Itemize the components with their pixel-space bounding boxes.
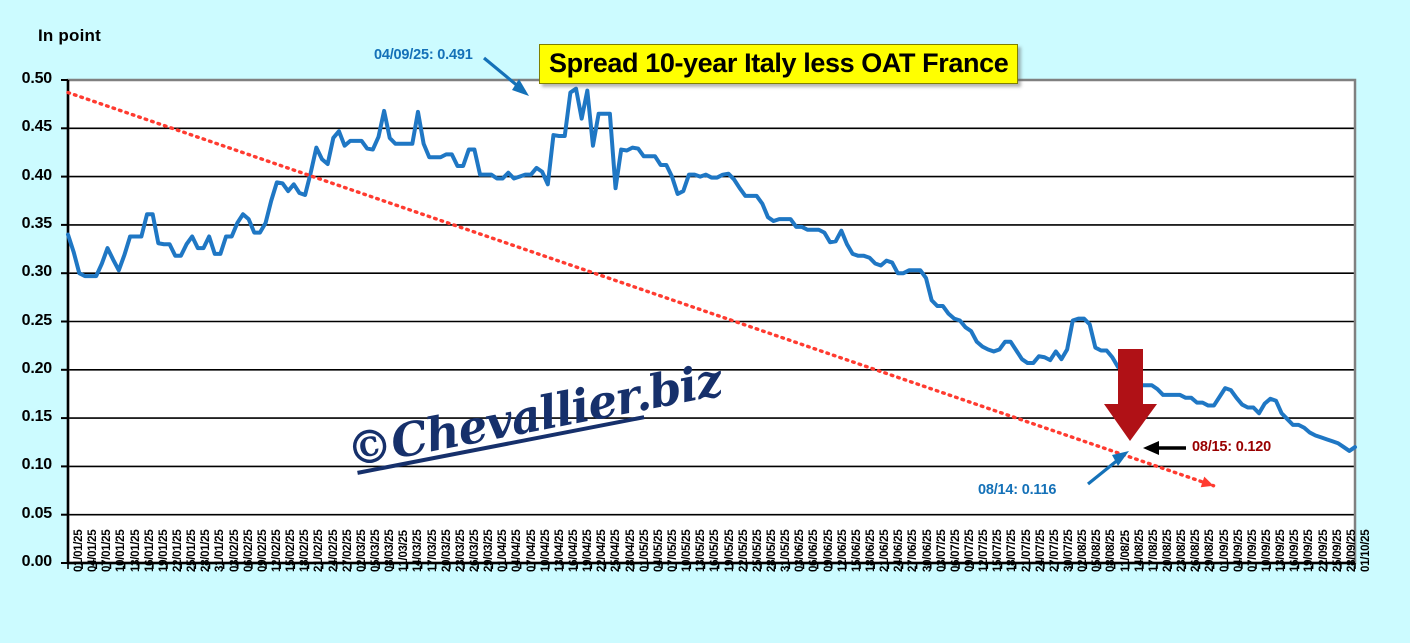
x-axis-tick-label: 27/02/25 <box>342 530 354 572</box>
annotation-last-value: 08/15: 0.120 <box>1192 439 1271 455</box>
x-axis-tick-label: 20/03/25 <box>441 530 453 572</box>
x-axis-tick-label: 19/01/25 <box>158 530 170 572</box>
x-axis-tick-label: 01/09/25 <box>1219 530 1231 572</box>
y-axis-tick-label: 0.05 <box>0 505 52 523</box>
x-axis-tick-label: 09/02/25 <box>257 530 269 572</box>
x-axis-tick-label: 14/08/25 <box>1134 530 1146 572</box>
x-axis-tick-label: 17/03/25 <box>427 530 439 572</box>
x-axis-tick-label: 06/06/25 <box>808 530 820 572</box>
x-axis-tick-label: 25/01/25 <box>186 530 198 572</box>
chart-title-box: Spread 10-year Italy less OAT France <box>539 44 1018 84</box>
x-axis-tick-label: 05/08/25 <box>1091 530 1103 572</box>
x-axis-tick-label: 19/04/25 <box>582 530 594 572</box>
x-axis-tick-label: 25/05/25 <box>752 530 764 572</box>
x-axis-tick-label: 08/08/25 <box>1105 530 1117 572</box>
x-axis-tick-label: 16/05/25 <box>709 530 721 572</box>
y-axis-tick-label: 0.50 <box>0 70 52 88</box>
x-axis-tick-label: 12/06/25 <box>837 530 849 572</box>
y-axis-tick-label: 0.10 <box>0 456 52 474</box>
x-axis-tick-label: 29/03/25 <box>483 530 495 572</box>
x-axis-tick-label: 16/01/25 <box>144 530 156 572</box>
chart-title: Spread 10-year Italy less OAT France <box>549 48 1008 78</box>
x-axis-tick-label: 07/01/25 <box>101 530 113 572</box>
x-axis-tick-label: 19/09/25 <box>1303 530 1315 572</box>
y-axis-tick-label: 0.45 <box>0 118 52 136</box>
x-axis-tick-label: 01/04/25 <box>497 530 509 572</box>
x-axis-tick-label: 09/07/25 <box>964 530 976 572</box>
x-axis-tick-label: 15/07/25 <box>992 530 1004 572</box>
x-axis-tick-label: 03/06/25 <box>794 530 806 572</box>
x-axis-tick-label: 24/02/25 <box>328 530 340 572</box>
x-axis-tick-label: 05/03/25 <box>370 530 382 572</box>
x-axis-tick-label: 23/08/25 <box>1176 530 1188 572</box>
x-axis-tick-label: 18/07/25 <box>1006 530 1018 572</box>
x-axis-tick-label: 16/04/25 <box>568 530 580 572</box>
x-axis-tick-label: 02/03/25 <box>356 530 368 572</box>
x-axis-tick-label: 04/05/25 <box>653 530 665 572</box>
x-axis-tick-label: 28/01/25 <box>200 530 212 572</box>
x-axis-tick-label: 02/08/25 <box>1077 530 1089 572</box>
x-axis-tick-label: 07/09/25 <box>1247 530 1259 572</box>
x-axis-tick-label: 13/05/25 <box>695 530 707 572</box>
x-axis-tick-label: 28/09/25 <box>1346 530 1358 572</box>
x-axis-tick-label: 18/06/25 <box>865 530 877 572</box>
annotation-low-value: 08/14: 0.116 <box>978 482 1056 498</box>
x-axis-tick-label: 04/04/25 <box>511 530 523 572</box>
x-axis-tick-label: 17/08/25 <box>1148 530 1160 572</box>
x-axis-tick-label: 14/03/25 <box>412 530 424 572</box>
chart-page: In point Spread 10-year Italy less OAT F… <box>0 0 1410 643</box>
x-axis-tick-label: 04/01/25 <box>87 530 99 572</box>
x-axis-tick-label: 16/09/25 <box>1289 530 1301 572</box>
x-axis-tick-label: 24/07/25 <box>1035 530 1047 572</box>
x-axis-tick-label: 10/09/25 <box>1261 530 1273 572</box>
x-axis-tick-label: 06/02/25 <box>243 530 255 572</box>
x-axis-tick-label: 13/04/25 <box>554 530 566 572</box>
x-axis-tick-label: 10/05/25 <box>681 530 693 572</box>
x-axis-tick-label: 25/09/25 <box>1332 530 1344 572</box>
x-axis-tick-label: 29/08/25 <box>1204 530 1216 572</box>
x-axis-tick-label: 20/08/25 <box>1162 530 1174 572</box>
y-axis-tick-label: 0.30 <box>0 263 52 281</box>
x-axis-tick-label: 15/06/25 <box>851 530 863 572</box>
x-axis-tick-label: 30/07/25 <box>1063 530 1075 572</box>
x-axis-tick-label: 22/05/25 <box>738 530 750 572</box>
x-axis-tick-label: 18/02/25 <box>299 530 311 572</box>
annotation-peak-value: 04/09/25: 0.491 <box>374 47 473 63</box>
x-axis-tick-label: 06/07/25 <box>950 530 962 572</box>
x-axis-tick-label: 12/02/25 <box>271 530 283 572</box>
x-axis-tick-label: 23/03/25 <box>455 530 467 572</box>
x-axis-tick-label: 26/03/25 <box>469 530 481 572</box>
x-axis-tick-label: 11/08/25 <box>1120 530 1132 572</box>
y-axis-tick-label: 0.40 <box>0 167 52 185</box>
x-axis-tick-label: 03/02/25 <box>229 530 241 572</box>
x-axis-tick-label: 22/01/25 <box>172 530 184 572</box>
x-axis-tick-label: 27/07/25 <box>1049 530 1061 572</box>
x-axis-tick-label: 31/05/25 <box>780 530 792 572</box>
y-axis-tick-label: 0.25 <box>0 312 52 330</box>
y-axis-tick-label: 0.20 <box>0 360 52 378</box>
x-axis-tick-label: 13/09/25 <box>1275 530 1287 572</box>
x-axis-tick-label: 31/01/25 <box>214 530 226 572</box>
x-axis-tick-label: 09/06/25 <box>823 530 835 572</box>
x-axis-tick-label: 25/04/25 <box>610 530 622 572</box>
x-axis-tick-label: 24/06/25 <box>893 530 905 572</box>
x-axis-tick-label: 01/10/25 <box>1360 530 1372 572</box>
x-axis-tick-label: 15/02/25 <box>285 530 297 572</box>
x-axis-tick-label: 27/06/25 <box>907 530 919 572</box>
x-axis-tick-label: 22/04/25 <box>596 530 608 572</box>
x-axis-tick-label: 07/04/25 <box>526 530 538 572</box>
x-axis-tick-label: 26/08/25 <box>1190 530 1202 572</box>
x-axis-tick-label: 13/01/25 <box>130 530 142 572</box>
x-axis-tick-label: 10/01/25 <box>115 530 127 572</box>
x-axis-tick-label: 01/01/25 <box>73 530 85 572</box>
y-axis-tick-label: 0.15 <box>0 408 52 426</box>
x-axis-tick-label: 28/04/25 <box>625 530 637 572</box>
y-axis-tick-label: 0.35 <box>0 215 52 233</box>
x-axis-tick-label: 30/06/25 <box>922 530 934 572</box>
x-axis-tick-label: 03/07/25 <box>936 530 948 572</box>
x-axis-tick-label: 11/03/25 <box>398 530 410 572</box>
x-axis-tick-label: 21/07/25 <box>1021 530 1033 572</box>
x-axis-tick-label: 08/03/25 <box>384 530 396 572</box>
y-axis-tick-label: 0.00 <box>0 553 52 571</box>
x-axis-tick-label: 21/06/25 <box>879 530 891 572</box>
x-axis-tick-label: 04/09/25 <box>1233 530 1245 572</box>
x-axis-tick-label: 01/05/25 <box>639 530 651 572</box>
x-axis-tick-label: 12/07/25 <box>978 530 990 572</box>
x-axis-tick-label: 10/04/25 <box>540 530 552 572</box>
x-axis-tick-label: 19/05/25 <box>724 530 736 572</box>
x-axis-tick-label: 22/09/25 <box>1318 530 1330 572</box>
x-axis-tick-label: 07/05/25 <box>667 530 679 572</box>
x-axis-tick-label: 28/05/25 <box>766 530 778 572</box>
x-axis-tick-label: 21/02/25 <box>313 530 325 572</box>
